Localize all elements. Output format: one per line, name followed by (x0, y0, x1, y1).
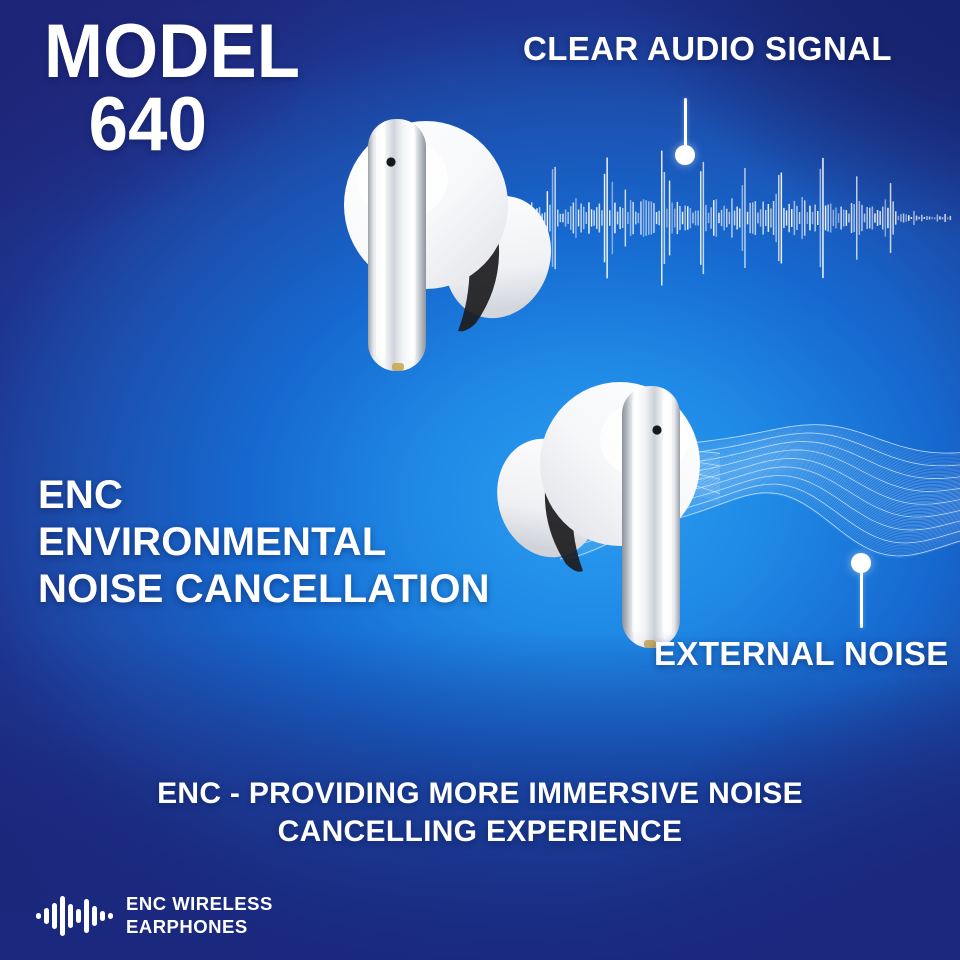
feature-line-3: NOISE CANCELLATION (38, 566, 490, 613)
model-title-line2: 640 (89, 89, 301, 162)
callout-pointer-line-external-noise (860, 566, 863, 628)
product-poster: MODEL 640 CLEAR AUDIO SIGNAL ENC ENVIRON… (0, 0, 960, 960)
brand-logo: ENC WIRELESS EARPHONES (36, 893, 273, 938)
callout-pointer-dot-clear-audio (675, 145, 695, 165)
callout-label-clear-audio: CLEAR AUDIO SIGNAL (523, 30, 892, 68)
tagline: ENC - PROVIDING MORE IMMERSIVE NOISE CAN… (0, 775, 960, 852)
feature-line-1: ENC (38, 472, 490, 519)
equalizer-bars-icon (36, 894, 113, 938)
brand-logo-line-2: EARPHONES (126, 916, 273, 939)
earbud-lower (470, 380, 730, 670)
tagline-line-1: ENC - PROVIDING MORE IMMERSIVE NOISE (0, 775, 960, 813)
callout-label-external-noise: EXTERNAL NOISE (654, 635, 949, 673)
feature-line-2: ENVIRONMENTAL (38, 519, 490, 566)
page-title: MODEL 640 (44, 16, 300, 162)
feature-text-block: ENC ENVIRONMENTAL NOISE CANCELLATION (38, 472, 490, 614)
brand-logo-text: ENC WIRELESS EARPHONES (126, 893, 273, 938)
earbud-upper (330, 105, 590, 385)
tagline-line-2: CANCELLING EXPERIENCE (0, 813, 960, 851)
brand-logo-line-1: ENC WIRELESS (126, 893, 273, 916)
